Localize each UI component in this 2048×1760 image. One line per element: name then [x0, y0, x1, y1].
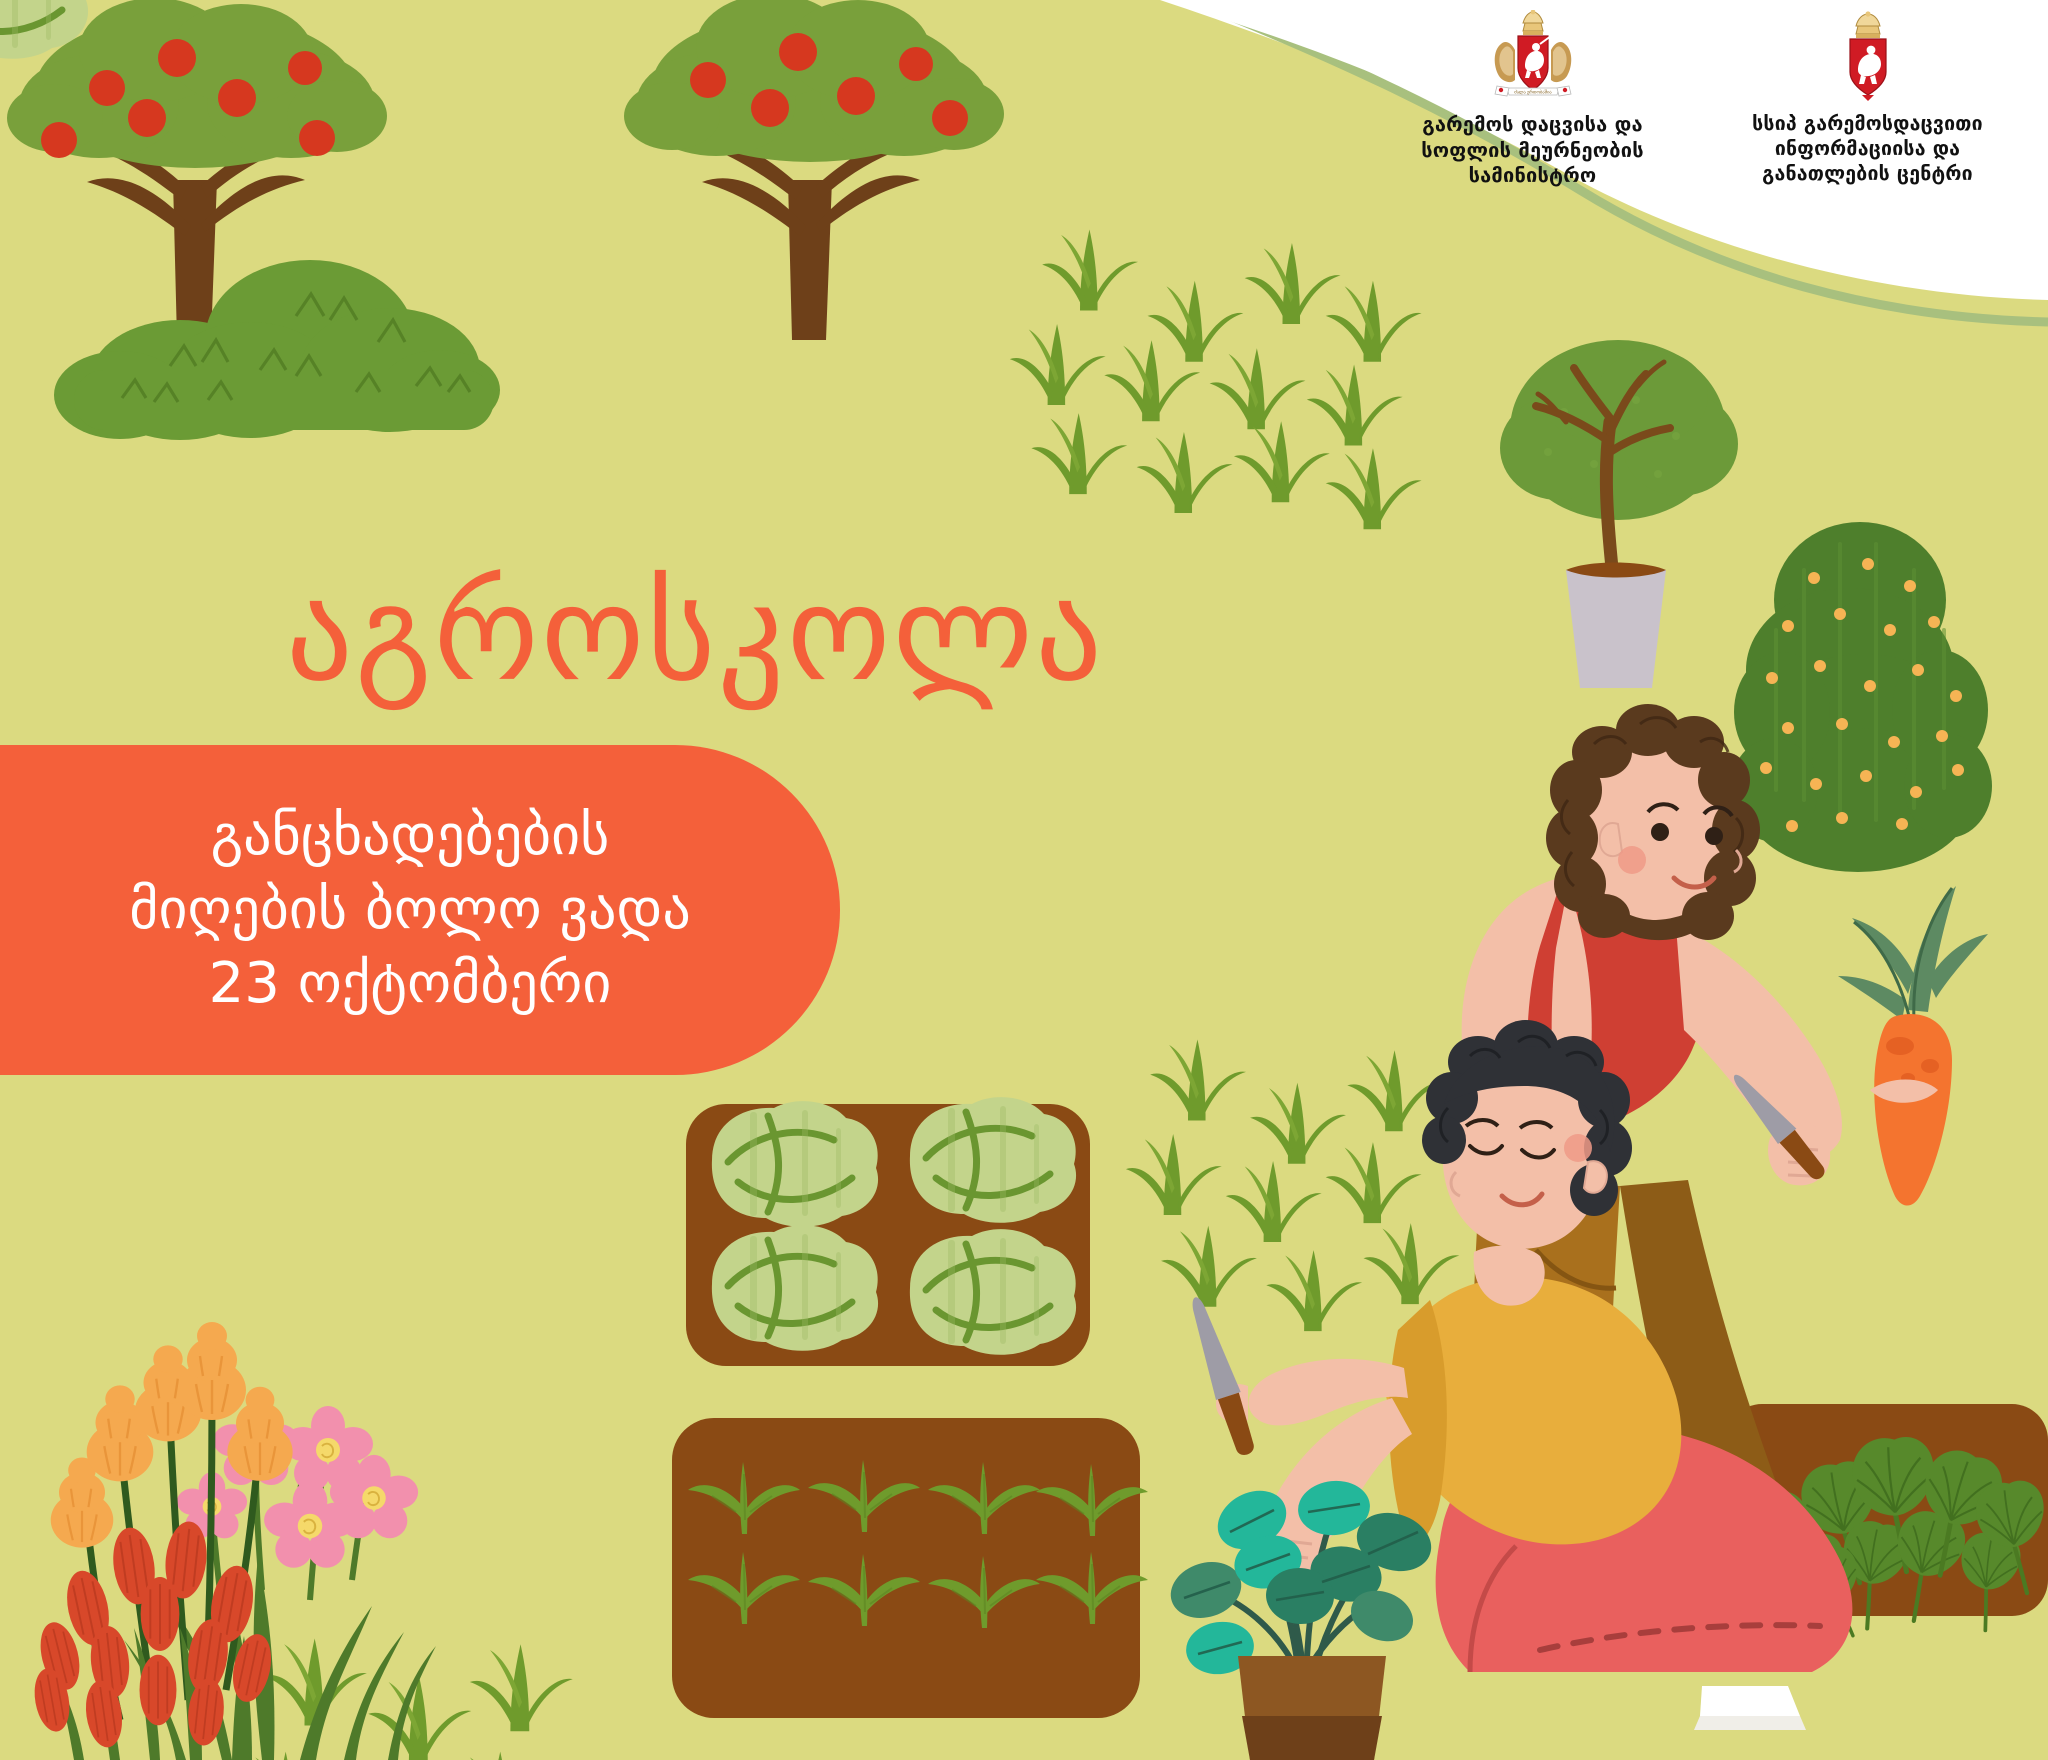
blush [1564, 1134, 1592, 1162]
poster-canvas: ძალა ერთობაშია გარემოს დაცვისა და სოფლის… [0, 0, 2048, 1760]
logo-eiec-caption: სსიპ გარემოსდაცვითი ინფორმაციისა და განა… [1730, 112, 2005, 187]
logo-eiec: სსიპ გარემოსდაცვითი ინფორმაციისა და განა… [1730, 10, 2005, 187]
shoe [1700, 1686, 1800, 1716]
svg-text:ძალა ერთობაშია: ძალა ერთობაშია [1514, 89, 1552, 94]
georgia-coat-of-arms-shield-icon [1730, 10, 2005, 102]
deadline-banner: განცხადებების მიღების ბოლო ვადა 23 ოქტომ… [0, 745, 840, 1075]
eye-right [1705, 827, 1723, 845]
header-logo-row: ძალა ერთობაშია გარემოს დაცვისა და სოფლის… [1395, 10, 2035, 200]
logo-ministry-caption: გარემოს დაცვისა და სოფლის მეურნეობის სამ… [1395, 112, 1670, 189]
logo-ministry: ძალა ერთობაშია გარემოს დაცვისა და სოფლის… [1395, 10, 1670, 189]
georgia-coat-of-arms-full-icon: ძალა ერთობაშია [1395, 10, 1670, 102]
blush [1618, 846, 1646, 874]
seedling-bed [672, 1418, 1148, 1718]
plant-pot [1566, 570, 1666, 688]
deadline-banner-text: განცხადებების მიღების ბოლო ვადა 23 ოქტომ… [69, 799, 731, 1021]
eye-left [1651, 823, 1669, 841]
page-title: აგროსკოლა [0, 568, 1390, 700]
